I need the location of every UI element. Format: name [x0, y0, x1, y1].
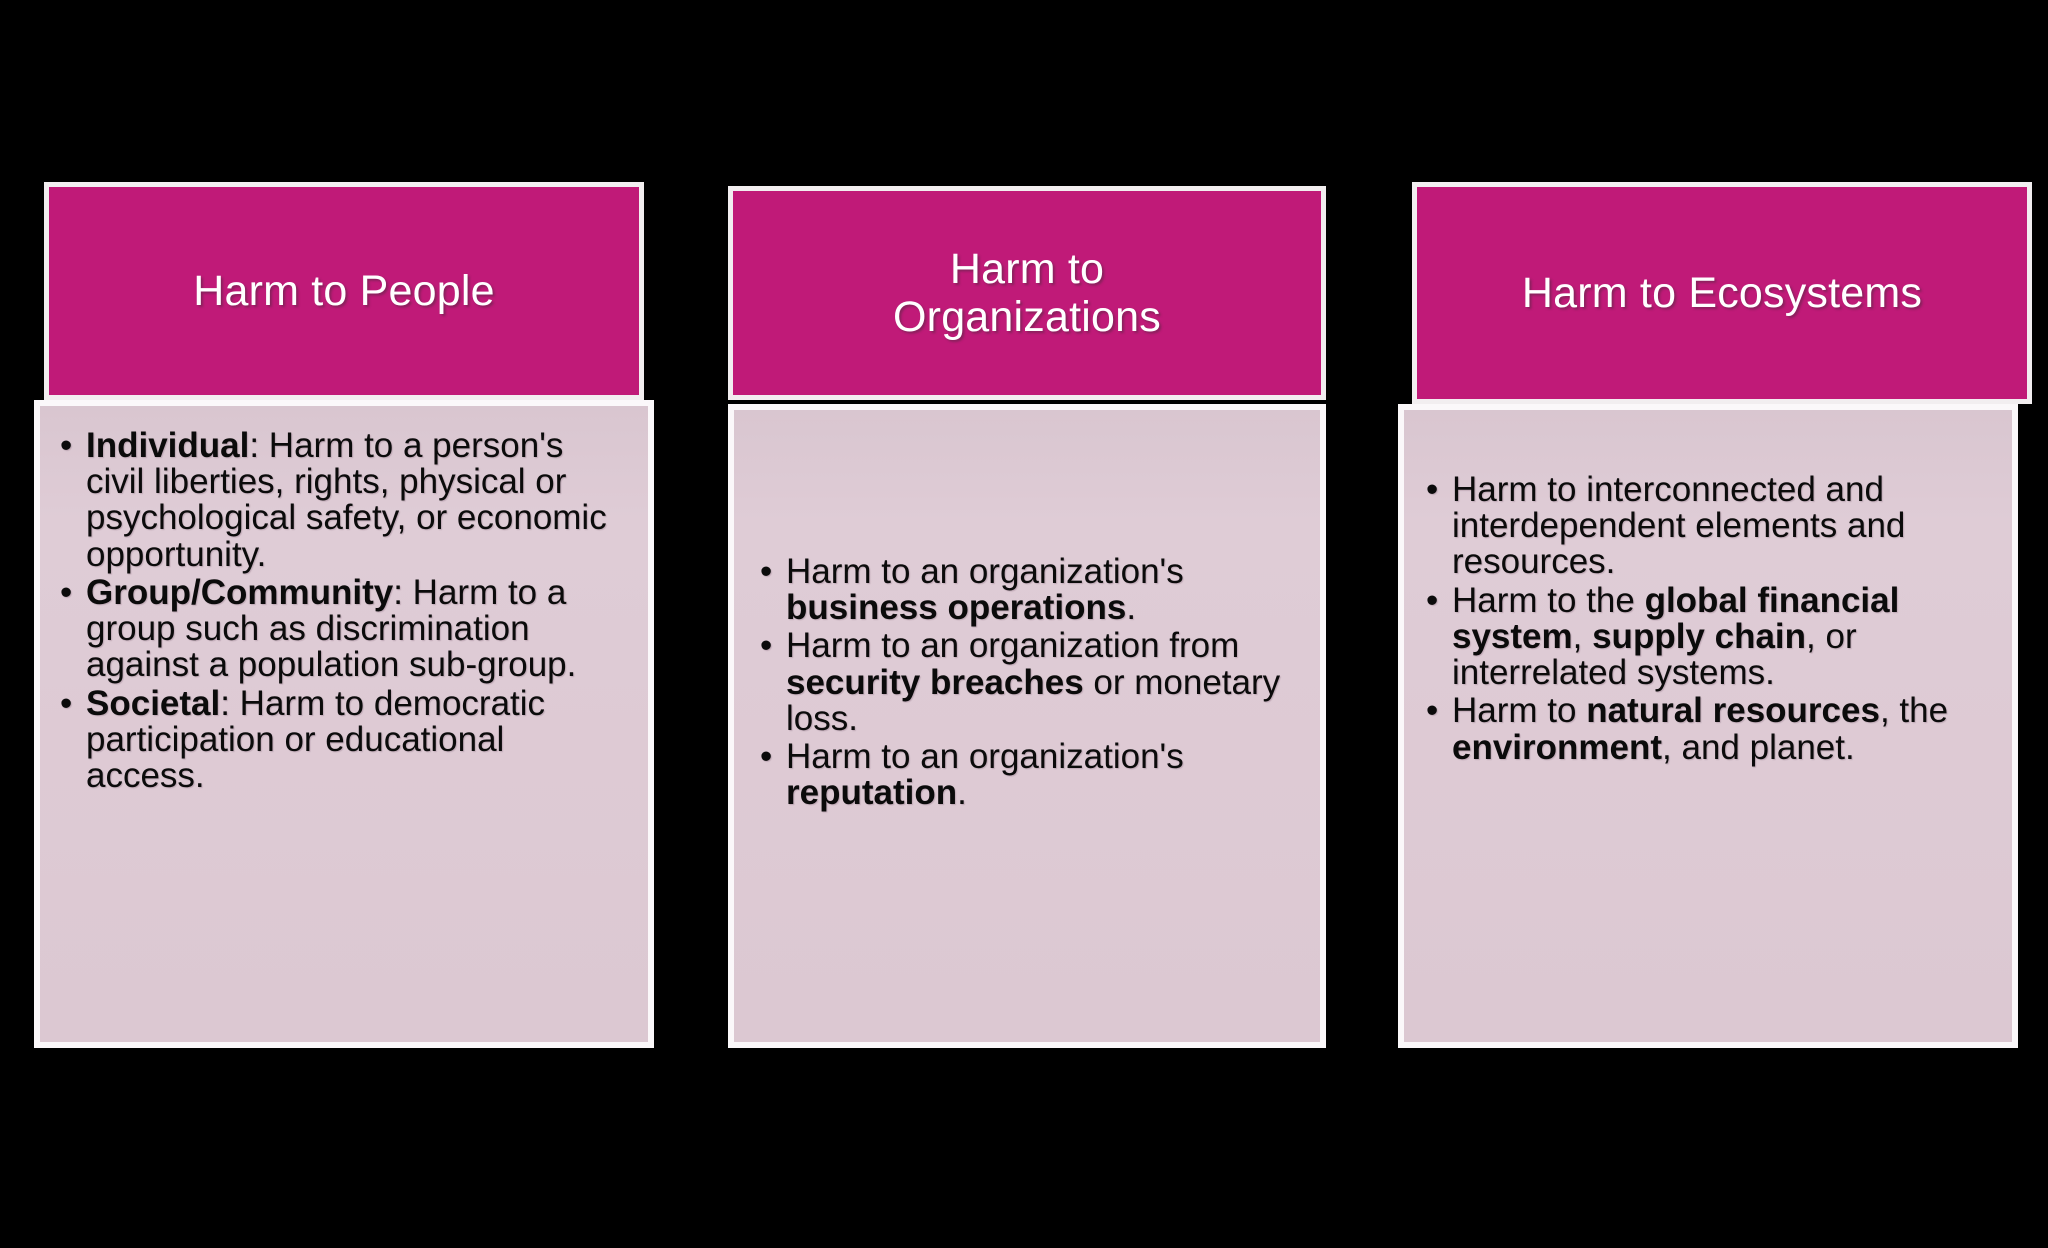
bullet-text: Harm to an organization's	[786, 737, 1184, 776]
bullet-list: •Harm to interconnected and interdepende…	[1424, 472, 2002, 766]
bullet-dot-icon: •	[1426, 693, 1438, 729]
bullet-emphasis: environment	[1452, 728, 1662, 767]
bullet-item: •Harm to an organization's reputation.	[758, 739, 1308, 811]
bullet-dot-icon: •	[1426, 583, 1438, 619]
bullet-emphasis: Group/Community	[86, 573, 393, 612]
bullet-dot-icon: •	[1426, 472, 1438, 508]
bullet-list: •Harm to an organization's business oper…	[758, 554, 1308, 812]
bullet-text: , and planet.	[1662, 728, 1855, 767]
card-header-harm-to-ecosystems: Harm to Ecosystems	[1412, 182, 2032, 404]
card-title: Harm to Ecosystems	[1508, 269, 1936, 317]
bullet-emphasis: supply chain	[1592, 617, 1806, 656]
slide-canvas: Harm to People •Individual: Harm to a pe…	[0, 0, 2048, 1248]
bullet-text: .	[1126, 588, 1136, 627]
bullet-item: •Individual: Harm to a person's civil li…	[58, 428, 618, 573]
bullet-item: •Harm to an organization's business oper…	[758, 554, 1308, 626]
card-header-harm-to-organizations: Harm to Organizations	[728, 186, 1326, 400]
bullet-emphasis: natural resources	[1586, 691, 1880, 730]
bullet-text: Harm to an organization from	[786, 626, 1239, 665]
card-body-harm-to-organizations: •Harm to an organization's business oper…	[728, 404, 1326, 1048]
bullet-emphasis: Individual	[86, 426, 249, 465]
card-title: Harm to People	[179, 267, 509, 315]
card-body-harm-to-ecosystems: •Harm to interconnected and interdepende…	[1398, 404, 2018, 1048]
bullet-text: Harm to	[1452, 691, 1586, 730]
card-body-harm-to-people: •Individual: Harm to a person's civil li…	[34, 400, 654, 1048]
bullet-item: •Harm to the global financial system, su…	[1424, 583, 2002, 692]
card-body-content: •Harm to an organization's business oper…	[758, 554, 1308, 814]
bullet-dot-icon: •	[760, 628, 772, 664]
bullet-dot-icon: •	[60, 575, 72, 611]
card-title: Harm to Organizations	[879, 245, 1175, 341]
bullet-text: ,	[1573, 617, 1592, 656]
bullet-item: •Societal: Harm to democratic participat…	[58, 686, 618, 795]
bullet-text: Harm to interconnected and interdependen…	[1452, 470, 1905, 581]
bullet-dot-icon: •	[760, 554, 772, 590]
bullet-emphasis: Societal	[86, 684, 220, 723]
bullet-dot-icon: •	[60, 686, 72, 722]
card-body-content: •Harm to interconnected and interdepende…	[1424, 472, 2002, 768]
bullet-item: •Harm to interconnected and interdepende…	[1424, 472, 2002, 581]
bullet-item: •Harm to an organization from security b…	[758, 628, 1308, 737]
bullet-emphasis: security breaches	[786, 663, 1084, 702]
bullet-text: .	[957, 773, 967, 812]
bullet-item: •Harm to natural resources, the environm…	[1424, 693, 2002, 765]
bullet-emphasis: reputation	[786, 773, 957, 812]
bullet-item: •Group/Community: Harm to a group such a…	[58, 575, 618, 684]
bullet-list: •Individual: Harm to a person's civil li…	[58, 428, 618, 794]
bullet-text: Harm to an organization's	[786, 552, 1184, 591]
bullet-dot-icon: •	[60, 428, 72, 464]
card-header-harm-to-people: Harm to People	[44, 182, 644, 400]
bullet-text: Harm to the	[1452, 581, 1645, 620]
bullet-text: , the	[1880, 691, 1948, 730]
card-body-content: •Individual: Harm to a person's civil li…	[58, 428, 618, 796]
bullet-emphasis: business operations	[786, 588, 1126, 627]
bullet-dot-icon: •	[760, 739, 772, 775]
